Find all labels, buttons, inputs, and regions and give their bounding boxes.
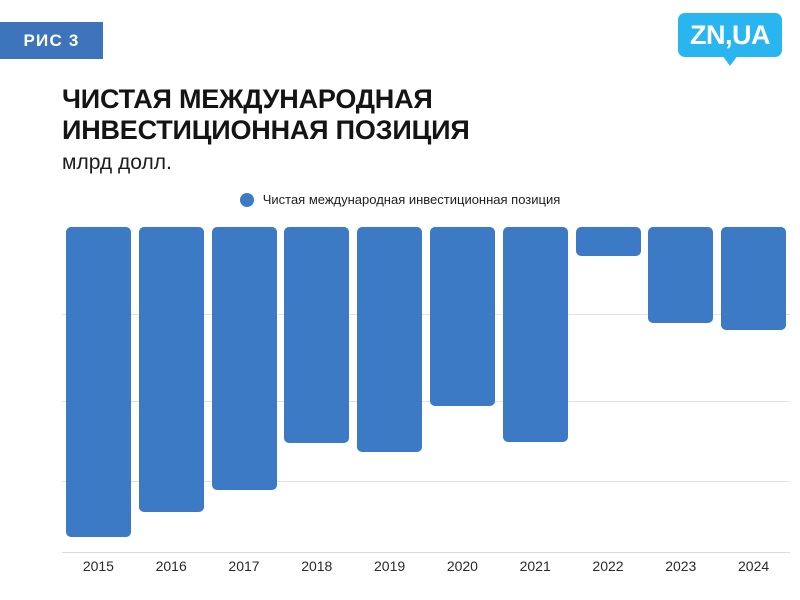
- bar-slot-2019: [357, 233, 422, 553]
- bar-slot-2022: [576, 233, 641, 553]
- bar-2022[interactable]: [576, 227, 641, 256]
- bar-chart-plot-area: [62, 233, 790, 553]
- bar-slot-2018: [284, 233, 349, 553]
- chart-legend: Чистая международная инвестиционная пози…: [0, 192, 800, 207]
- page-subtitle: млрд долл.: [62, 151, 172, 175]
- x-tick-2022: 2022: [572, 558, 645, 574]
- bar-slot-2023: [648, 233, 713, 553]
- zn-ua-logo[interactable]: ZN,UA: [678, 13, 782, 57]
- bar-slot-2015: [66, 233, 131, 553]
- x-tick-2016: 2016: [135, 558, 208, 574]
- legend-item-label: Чистая международная инвестиционная пози…: [263, 192, 561, 207]
- bar-2021[interactable]: [503, 227, 568, 442]
- bar-2023[interactable]: [648, 227, 713, 323]
- bar-slot-2020: [430, 233, 495, 553]
- chart-axis-line: [62, 552, 790, 553]
- bar-2015[interactable]: [66, 227, 131, 537]
- legend-swatch-icon: [240, 193, 254, 207]
- chart-bars: [62, 233, 790, 553]
- bar-2024[interactable]: [721, 227, 786, 330]
- x-axis-tick-labels: 2015201620172018201920202021202220232024: [62, 558, 790, 584]
- figure-badge-label: РИС 3: [23, 31, 79, 51]
- logo-wordmark: ZN,UA: [678, 13, 782, 57]
- bar-2020[interactable]: [430, 227, 495, 406]
- x-tick-2024: 2024: [717, 558, 790, 574]
- bar-2018[interactable]: [284, 227, 349, 443]
- bar-2019[interactable]: [357, 227, 422, 452]
- x-tick-2018: 2018: [280, 558, 353, 574]
- bar-2016[interactable]: [139, 227, 204, 512]
- bar-slot-2016: [139, 233, 204, 553]
- x-tick-2021: 2021: [499, 558, 572, 574]
- x-tick-2020: 2020: [426, 558, 499, 574]
- bar-slot-2017: [212, 233, 277, 553]
- figure-badge: РИС 3: [0, 22, 103, 59]
- bar-slot-2021: [503, 233, 568, 553]
- x-tick-2023: 2023: [644, 558, 717, 574]
- x-tick-2017: 2017: [208, 558, 281, 574]
- bar-slot-2024: [721, 233, 786, 553]
- infographic-page: РИС 3 ZN,UA ЧИСТАЯ МЕЖДУНАРОДНАЯ ИНВЕСТИ…: [0, 0, 800, 600]
- x-tick-2015: 2015: [62, 558, 135, 574]
- x-tick-2019: 2019: [353, 558, 426, 574]
- page-title: ЧИСТАЯ МЕЖДУНАРОДНАЯ ИНВЕСТИЦИОННАЯ ПОЗИ…: [62, 84, 702, 147]
- bar-2017[interactable]: [212, 227, 277, 490]
